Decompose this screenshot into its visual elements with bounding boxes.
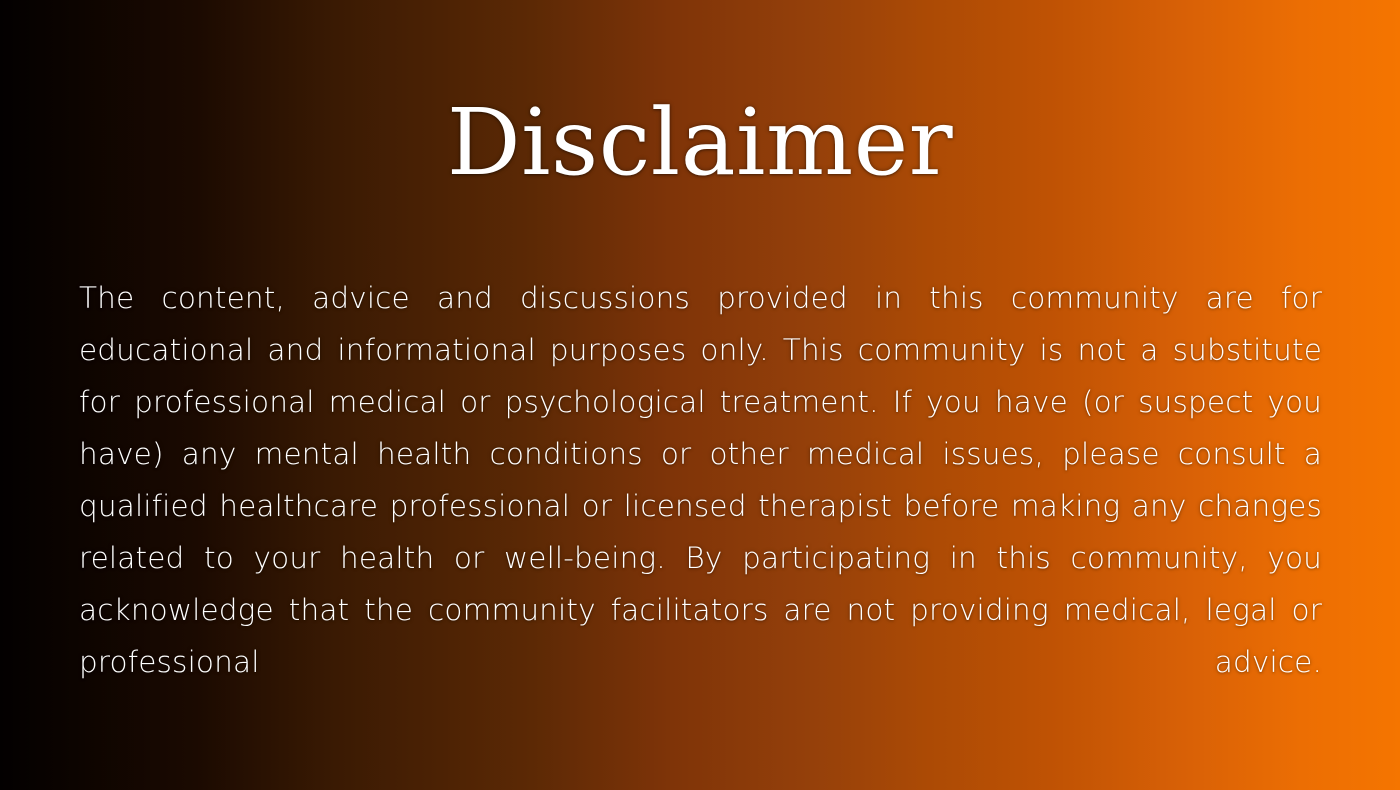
slide-title-container: Disclaimer bbox=[0, 96, 1400, 190]
disclaimer-body-text: The content, advice and discussions prov… bbox=[79, 272, 1322, 740]
page-title: Disclaimer bbox=[447, 96, 953, 190]
slide-canvas: Disclaimer The content, advice and discu… bbox=[0, 0, 1400, 790]
slide-body-container: The content, advice and discussions prov… bbox=[79, 272, 1322, 740]
